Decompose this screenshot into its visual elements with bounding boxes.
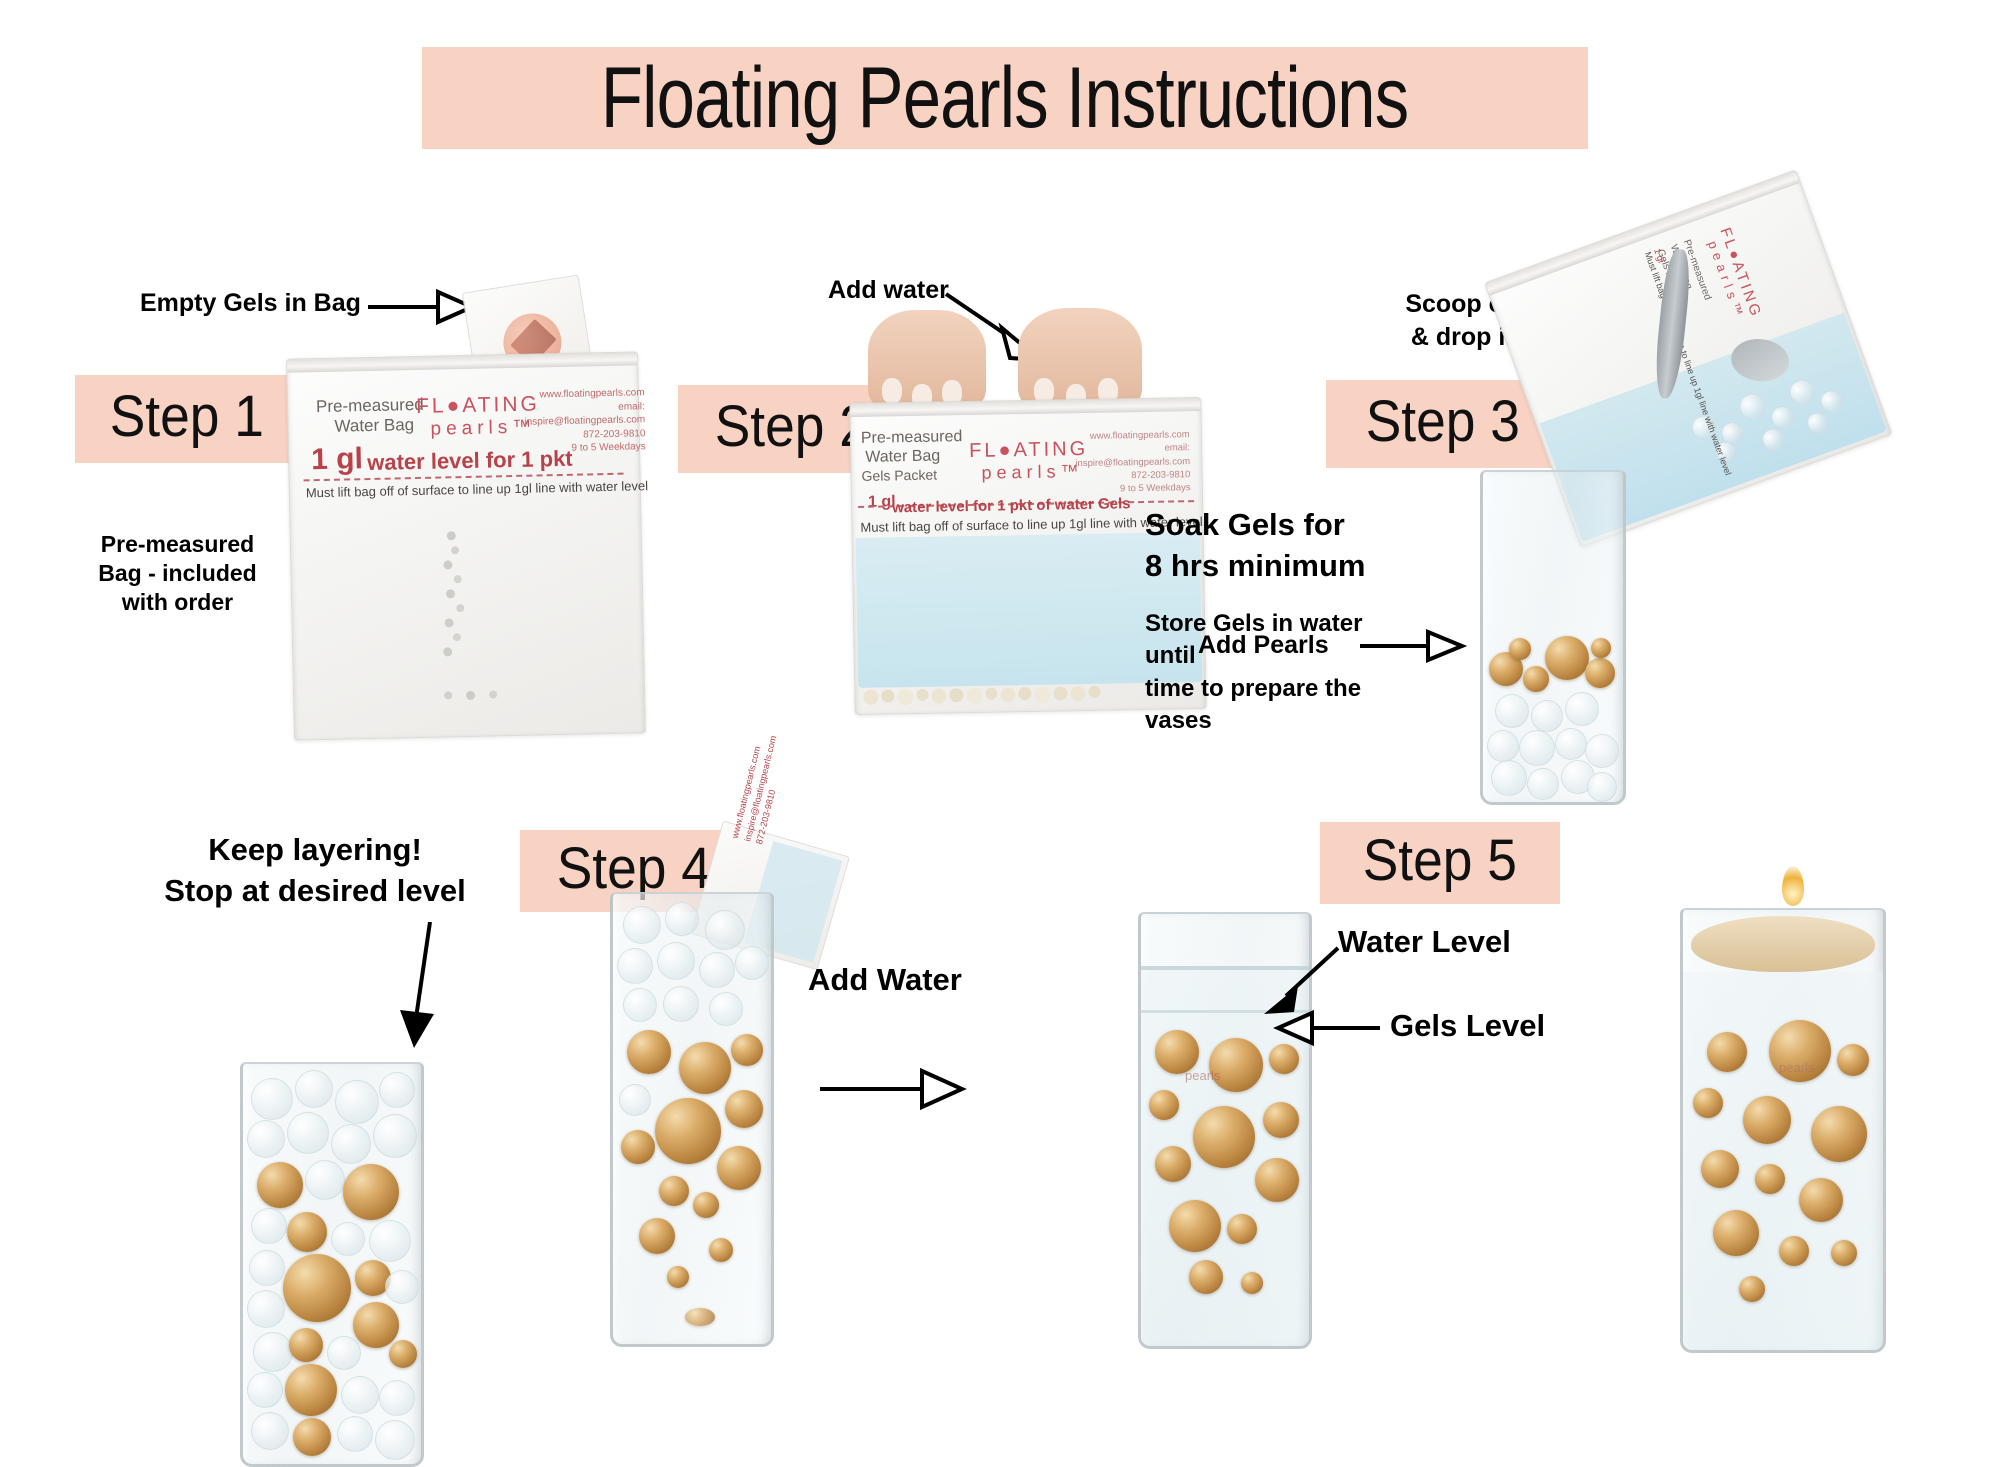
bag-logo-floating: FL●ATING xyxy=(969,438,1088,463)
pearl xyxy=(1831,1240,1857,1266)
step-1-group: Empty Gels in Bag Step 1 Pre-measured Ba… xyxy=(0,0,660,790)
candle-flame-icon xyxy=(1782,866,1804,906)
gel-bead xyxy=(663,986,699,1022)
gel-bead xyxy=(249,1250,285,1286)
arrow-right-icon xyxy=(1360,628,1470,664)
step-4-group: Keep layering! Stop at desired level Ste… xyxy=(120,800,1020,1360)
pearl xyxy=(685,1308,715,1326)
gel-bead xyxy=(251,1078,293,1120)
annotation-water-level: Water Level xyxy=(1338,922,1511,961)
pearl xyxy=(1755,1164,1785,1194)
pearl xyxy=(627,1030,671,1074)
step-3-group: Scoop out Gels & drop in vase Step 3 FL●… xyxy=(1290,0,2000,830)
gel-bead xyxy=(709,992,743,1026)
pearl xyxy=(1811,1106,1867,1162)
gel-bead xyxy=(1519,730,1555,766)
vase-text-line1: pearls xyxy=(1779,1058,1814,1078)
pearl xyxy=(1189,1260,1223,1294)
bag-logo: FL●ATING pearls™ xyxy=(969,438,1089,484)
gel-bead xyxy=(699,952,735,988)
pearl xyxy=(353,1302,399,1348)
gel-bead xyxy=(379,1380,415,1416)
gel-bead xyxy=(251,1412,289,1450)
gel-bead xyxy=(1487,730,1519,762)
pearl xyxy=(1837,1044,1869,1076)
vase-step-4 xyxy=(610,892,774,1347)
pearl xyxy=(289,1328,323,1362)
gel-bead xyxy=(1585,734,1619,768)
arrow-down-icon xyxy=(390,922,460,1052)
pearl xyxy=(1779,1236,1809,1266)
bag-water-bag: Water Bag xyxy=(865,448,940,467)
annotation-empty-gels: Empty Gels in Bag xyxy=(140,288,361,320)
pearl xyxy=(717,1146,761,1190)
pearl xyxy=(1523,666,1549,692)
gel-bead xyxy=(1555,728,1587,760)
gel-bead xyxy=(657,942,695,980)
bag-gels-packet: Gels Packet xyxy=(861,467,937,484)
pearl xyxy=(709,1238,733,1262)
arrow-right-icon xyxy=(820,1065,970,1113)
bag-logo-pearls: pearls™ xyxy=(416,416,540,441)
gel-bead xyxy=(247,1290,285,1328)
bag-premeasured: Pre-measured xyxy=(316,395,424,417)
keep-layering-line-1: Keep layering! xyxy=(130,830,500,871)
gel-bead xyxy=(369,1220,411,1262)
step-5-label: Step 5 xyxy=(1363,827,1517,894)
pearl xyxy=(1545,636,1589,680)
bag-gel-dots-bottom xyxy=(444,690,497,700)
premeasured-line-3: with order xyxy=(70,588,285,617)
pearl xyxy=(1739,1276,1765,1302)
vase-gels-surface xyxy=(1141,1010,1309,1013)
annotation-gels-level: Gels Level xyxy=(1390,1006,1545,1045)
bag-zipper xyxy=(287,352,637,372)
pearl xyxy=(257,1162,303,1208)
step-1-chip: Step 1 xyxy=(75,375,298,463)
pearl xyxy=(293,1418,331,1456)
gel-bead xyxy=(373,1114,417,1158)
pearl xyxy=(343,1164,399,1220)
gel-bead xyxy=(705,910,745,950)
vase-pearl-layer xyxy=(1483,624,1623,694)
gel-bead xyxy=(1531,700,1563,732)
gel-bead xyxy=(247,1120,285,1158)
gel-bead xyxy=(337,1416,373,1452)
pearl xyxy=(1227,1214,1257,1244)
bag-water-bag: Water Bag xyxy=(334,415,414,437)
gel-bead xyxy=(331,1222,365,1256)
premeasured-line-2: Bag - included xyxy=(70,559,285,588)
pearl xyxy=(1693,1088,1723,1118)
pearl xyxy=(693,1192,719,1218)
gel-bead xyxy=(305,1160,345,1200)
vase-text-line1: pearls xyxy=(1185,1066,1220,1086)
gel-bead xyxy=(385,1270,419,1304)
gel-bead xyxy=(295,1070,333,1108)
bag-hours: 9 to 5 Weekdays xyxy=(1076,481,1191,496)
pearl xyxy=(1713,1210,1759,1256)
step-1-label: Step 1 xyxy=(109,383,263,450)
vase-keep-layering xyxy=(240,1062,424,1467)
pearl xyxy=(389,1340,417,1368)
vase-step-3 xyxy=(1480,470,1626,805)
pearl xyxy=(679,1042,731,1094)
floating-candle xyxy=(1691,916,1875,972)
pearl xyxy=(639,1218,675,1254)
pearl xyxy=(287,1212,327,1252)
gel-bead xyxy=(623,988,657,1022)
pearl xyxy=(667,1266,689,1288)
pearl xyxy=(1149,1090,1179,1120)
bag-premeasured: Pre-measured xyxy=(861,428,963,448)
gel-bead xyxy=(375,1420,415,1460)
pearl xyxy=(1263,1102,1299,1138)
step-5-group: Step 5 pearls Water Level Gels Level xyxy=(1060,800,2000,1360)
gel-bead xyxy=(341,1376,379,1414)
pearl xyxy=(1155,1146,1191,1182)
bag-logo: FL●ATING pearls™ xyxy=(416,392,541,441)
pearl xyxy=(285,1364,337,1416)
gel-bead xyxy=(253,1332,293,1372)
pearl xyxy=(1799,1178,1843,1222)
pearl xyxy=(1509,638,1531,660)
bag-water-level-line: water level for 1 pkt of water Gels xyxy=(892,495,1131,516)
gel-bead xyxy=(623,906,661,944)
pearl xyxy=(621,1130,655,1164)
water-bag-step1: Pre-measured Water Bag 1 gl FL●ATING pea… xyxy=(286,351,646,740)
pearl xyxy=(1707,1032,1747,1072)
gel-bead xyxy=(735,946,769,980)
step-5-chip: Step 5 xyxy=(1320,822,1560,904)
left-hand xyxy=(868,310,986,412)
bag-fine-print: Must lift bag off of surface to line up … xyxy=(306,478,649,500)
vase-brand-text: pearls xyxy=(1779,1058,1814,1078)
step-2-label: Step 2 xyxy=(715,393,869,460)
vase-brand-text: pearls xyxy=(1185,1066,1220,1086)
bag-zipper xyxy=(1485,171,1800,296)
pearl xyxy=(283,1254,351,1322)
gel-bead xyxy=(379,1072,415,1108)
gel-bead xyxy=(1565,692,1599,726)
gel-bead xyxy=(1527,768,1559,800)
bag-contact-block: www.floatingpearls.com email: inspire@fl… xyxy=(524,386,646,456)
annotation-add-pearls: Add Pearls xyxy=(1198,630,1329,662)
gel-bead xyxy=(1491,760,1527,796)
pearl xyxy=(1255,1158,1299,1202)
gel-bead xyxy=(335,1080,379,1124)
right-hand xyxy=(1018,308,1142,412)
bag-volume: 1 gl xyxy=(311,442,363,477)
step-2-group: Add water Step 2 Pre-measured Water Bag … xyxy=(640,0,1400,790)
bag-logo-floating: FL●ATING xyxy=(416,392,540,419)
step-3-label: Step 3 xyxy=(1365,388,1519,455)
pearl xyxy=(1701,1150,1739,1188)
gel-bead xyxy=(1495,694,1529,728)
annotation-add-water-step4: Add Water xyxy=(808,960,962,999)
pearl xyxy=(1591,638,1611,658)
bag-gel-dots xyxy=(441,526,466,662)
annotation-keep-layering: Keep layering! Stop at desired level xyxy=(130,830,500,912)
pearl xyxy=(725,1090,763,1128)
bag-logo-pearls: pearls™ xyxy=(969,461,1088,484)
gel-bead xyxy=(617,948,653,984)
bag-contact-block: www.floatingpearls.com email: inspire@fl… xyxy=(1075,428,1191,496)
pearl xyxy=(1585,658,1615,688)
vase-final: pearls xyxy=(1680,908,1886,1353)
pearl xyxy=(655,1098,721,1164)
pearl xyxy=(1193,1106,1255,1168)
gel-bead xyxy=(287,1112,329,1154)
premeasured-line-1: Pre-measured xyxy=(70,530,285,559)
annotation-premeasured-bag: Pre-measured Bag - included with order xyxy=(70,530,285,617)
gel-bead xyxy=(1786,376,1818,408)
gel-bead xyxy=(665,902,699,936)
gel-bead xyxy=(619,1084,651,1116)
gel-bead xyxy=(247,1372,283,1408)
bag-logo-rotated: FL●ATING pearls™ xyxy=(1702,225,1765,325)
gel-bead xyxy=(251,1208,287,1244)
pearl xyxy=(1241,1272,1263,1294)
gel-bead xyxy=(1736,390,1769,423)
fingernail xyxy=(882,378,902,404)
pearl xyxy=(731,1034,763,1066)
keep-layering-line-2: Stop at desired level xyxy=(130,871,500,912)
vase-step-5: pearls xyxy=(1138,912,1312,1349)
pearl xyxy=(1269,1044,1299,1074)
gel-bead xyxy=(1587,772,1617,802)
gel-bead xyxy=(1817,387,1845,415)
gel-bead xyxy=(331,1124,371,1164)
pearl xyxy=(1743,1096,1791,1144)
pearl xyxy=(1169,1200,1221,1252)
bag-hours: 9 to 5 Weekdays xyxy=(525,440,646,456)
gel-bead xyxy=(327,1336,361,1370)
pearl xyxy=(659,1176,689,1206)
